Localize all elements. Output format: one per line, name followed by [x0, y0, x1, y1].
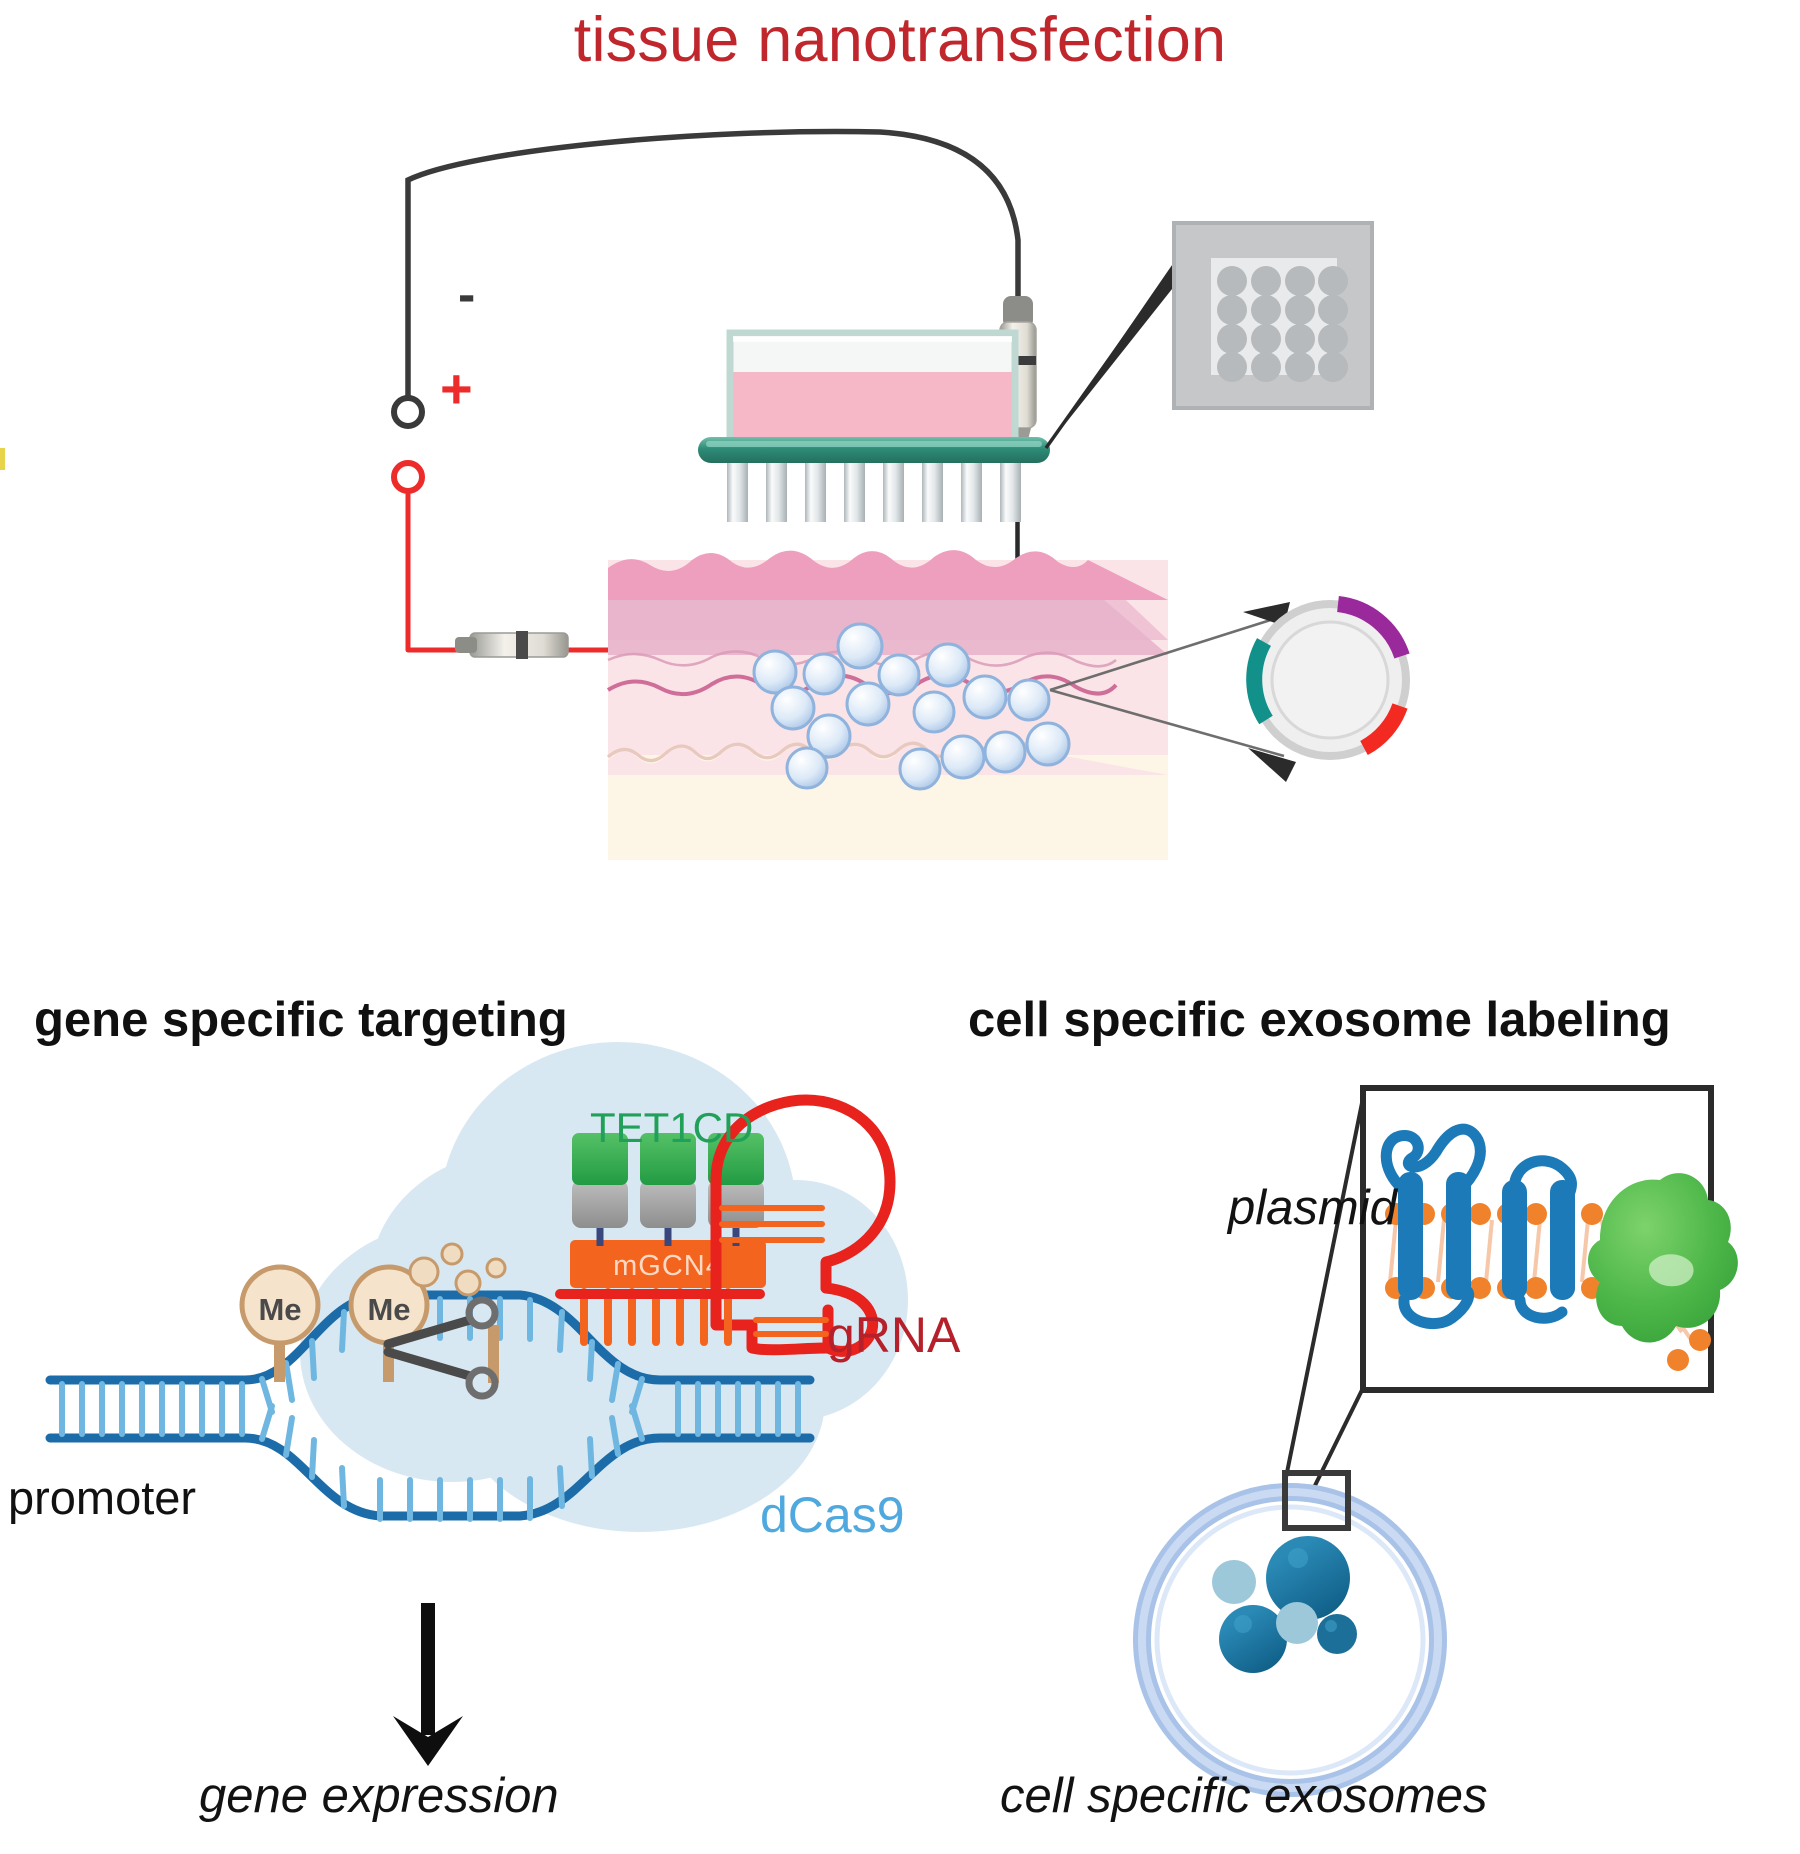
methyl-fragments: [410, 1244, 505, 1295]
exosome-vesicle: [1142, 1473, 1438, 1788]
section-heading-gene-targeting: gene specific targeting: [34, 992, 568, 1048]
positive-electrode-wire: [394, 463, 960, 650]
exosome-cargo: [1212, 1536, 1357, 1673]
section-heading-exosome-labeling: cell specific exosome labeling: [968, 992, 1671, 1048]
scissors-icon: [388, 1300, 495, 1396]
nanoparticle-cluster: [754, 624, 1069, 789]
electrode-negative-symbol: -: [458, 266, 475, 324]
electrode-positive-symbol: +: [440, 357, 473, 420]
exosome-zoom-leader: [1282, 1098, 1363, 1518]
positive-electrode-connector: [455, 631, 568, 659]
skin-tissue: [608, 550, 1168, 860]
promoter-label: promoter: [8, 1470, 196, 1525]
grna-duplex-rungs: [722, 1208, 826, 1334]
lipid-bilayer: [1385, 1203, 1711, 1371]
mgcn4-label: mGCN4: [613, 1250, 723, 1282]
figure-canvas: - +: [0, 0, 1800, 1854]
nanochannel-array: [727, 463, 1021, 522]
grna-label: gRNA: [827, 1306, 960, 1364]
methyl-tag-group: Me Me: [242, 1267, 499, 1383]
chip-plate: [698, 437, 1050, 463]
page-title: tissue nanotransfection: [0, 4, 1800, 76]
gene-targeting-diagram: Me Me mGCN4: [50, 1042, 908, 1766]
tnt-apparatus: - +: [0, 132, 1406, 860]
grna-seed-teeth: [584, 1292, 728, 1342]
dcas9-label: dCas9: [760, 1486, 905, 1544]
electrode-probe: [0, 296, 1036, 600]
downward-arrow-icon: [393, 1603, 463, 1766]
transmembrane-protein: [1386, 1129, 1575, 1323]
gfp-protein: [1588, 1173, 1738, 1342]
methyl-tag-label-1: Me: [258, 1292, 301, 1327]
plasmid-diagram: [1254, 604, 1406, 756]
exosome-zoom-box: [1285, 1473, 1348, 1528]
reservoir-well: [730, 333, 1015, 443]
chip-leader-arrow: [1046, 236, 1195, 448]
cell-specific-exosomes-label: cell specific exosomes: [1000, 1768, 1487, 1824]
gene-expression-label: gene expression: [199, 1768, 559, 1824]
negative-electrode-wire: [394, 132, 1018, 426]
plasmid-label: plasmid: [1228, 1180, 1397, 1236]
membrane-inset-frame: [1363, 1088, 1711, 1390]
page-title-text: tissue nanotransfection: [574, 5, 1227, 75]
plasmid-leader-lines: [1050, 602, 1296, 782]
chip-inset: [1174, 223, 1372, 408]
mgcn4-scaffold: mGCN4: [570, 1240, 766, 1288]
tet1cd-label: TET1CD: [590, 1104, 753, 1152]
methyl-tag-label-2: Me: [367, 1292, 410, 1327]
chip-leader-line: [1046, 245, 1190, 448]
